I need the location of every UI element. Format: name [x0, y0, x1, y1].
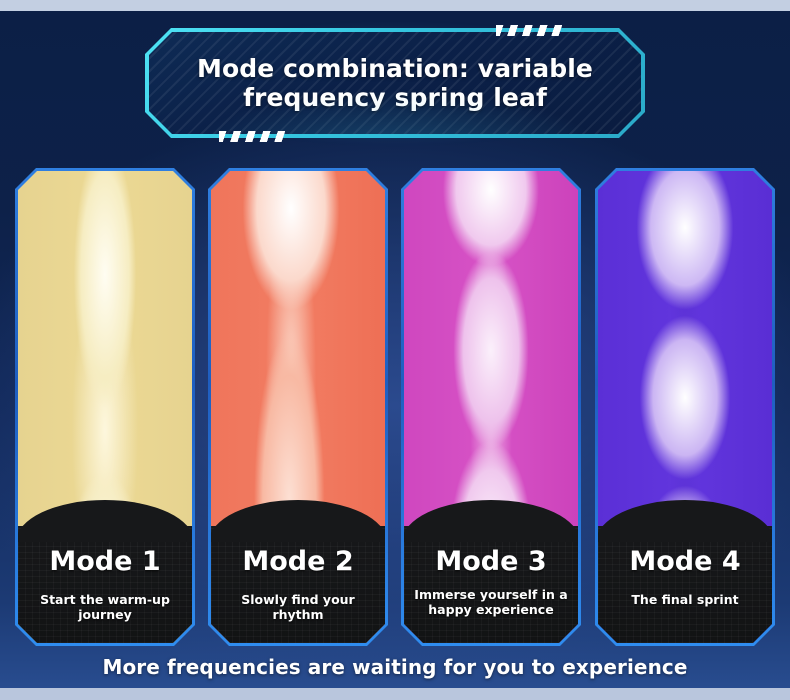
card-desc-4: The final sprint — [623, 592, 746, 607]
footer-bar: More frequencies are waiting for you to … — [0, 646, 790, 688]
card-label-1: Mode 1 Start the warm-up journey — [18, 526, 192, 643]
mode-card-4[interactable]: Mode 4 The final sprint — [595, 168, 775, 646]
card-title-4: Mode 4 — [629, 548, 740, 575]
mode-card-list: Mode 1 Start the warm-up journey Mode 2 … — [0, 168, 790, 646]
mode-card-3[interactable]: Mode 3 Immerse yourself in a happy exper… — [401, 168, 581, 646]
card-desc-1: Start the warm-up journey — [18, 592, 192, 623]
mode-card-1[interactable]: Mode 1 Start the warm-up journey — [15, 168, 195, 646]
card-title-3: Mode 3 — [435, 548, 546, 575]
card-inner-3: Mode 3 Immerse yourself in a happy exper… — [404, 171, 578, 643]
card-title-2: Mode 2 — [242, 548, 353, 575]
card-label-4: Mode 4 The final sprint — [598, 526, 772, 643]
top-edge-strip — [0, 0, 790, 11]
promo-graphic: Mode combination: variable frequency spr… — [0, 0, 790, 700]
mode-card-2[interactable]: Mode 2 Slowly find your rhythm — [208, 168, 388, 646]
card-title-1: Mode 1 — [49, 548, 160, 575]
stripe-decoration-top-right — [496, 25, 564, 36]
banner-inner-panel: Mode combination: variable frequency spr… — [149, 32, 641, 134]
banner-title: Mode combination: variable frequency spr… — [149, 54, 641, 112]
footer-text: More frequencies are waiting for you to … — [102, 655, 687, 679]
header-banner: Mode combination: variable frequency spr… — [145, 28, 645, 138]
bottom-edge-strip — [0, 688, 790, 700]
card-label-2: Mode 2 Slowly find your rhythm — [211, 526, 385, 643]
card-inner-4: Mode 4 The final sprint — [598, 171, 772, 643]
card-label-3: Mode 3 Immerse yourself in a happy exper… — [404, 526, 578, 643]
card-desc-2: Slowly find your rhythm — [211, 592, 385, 623]
card-inner-1: Mode 1 Start the warm-up journey — [18, 171, 192, 643]
card-inner-2: Mode 2 Slowly find your rhythm — [211, 171, 385, 643]
card-desc-3: Immerse yourself in a happy experience — [404, 587, 578, 618]
stripe-decoration-bottom-left — [219, 131, 287, 142]
